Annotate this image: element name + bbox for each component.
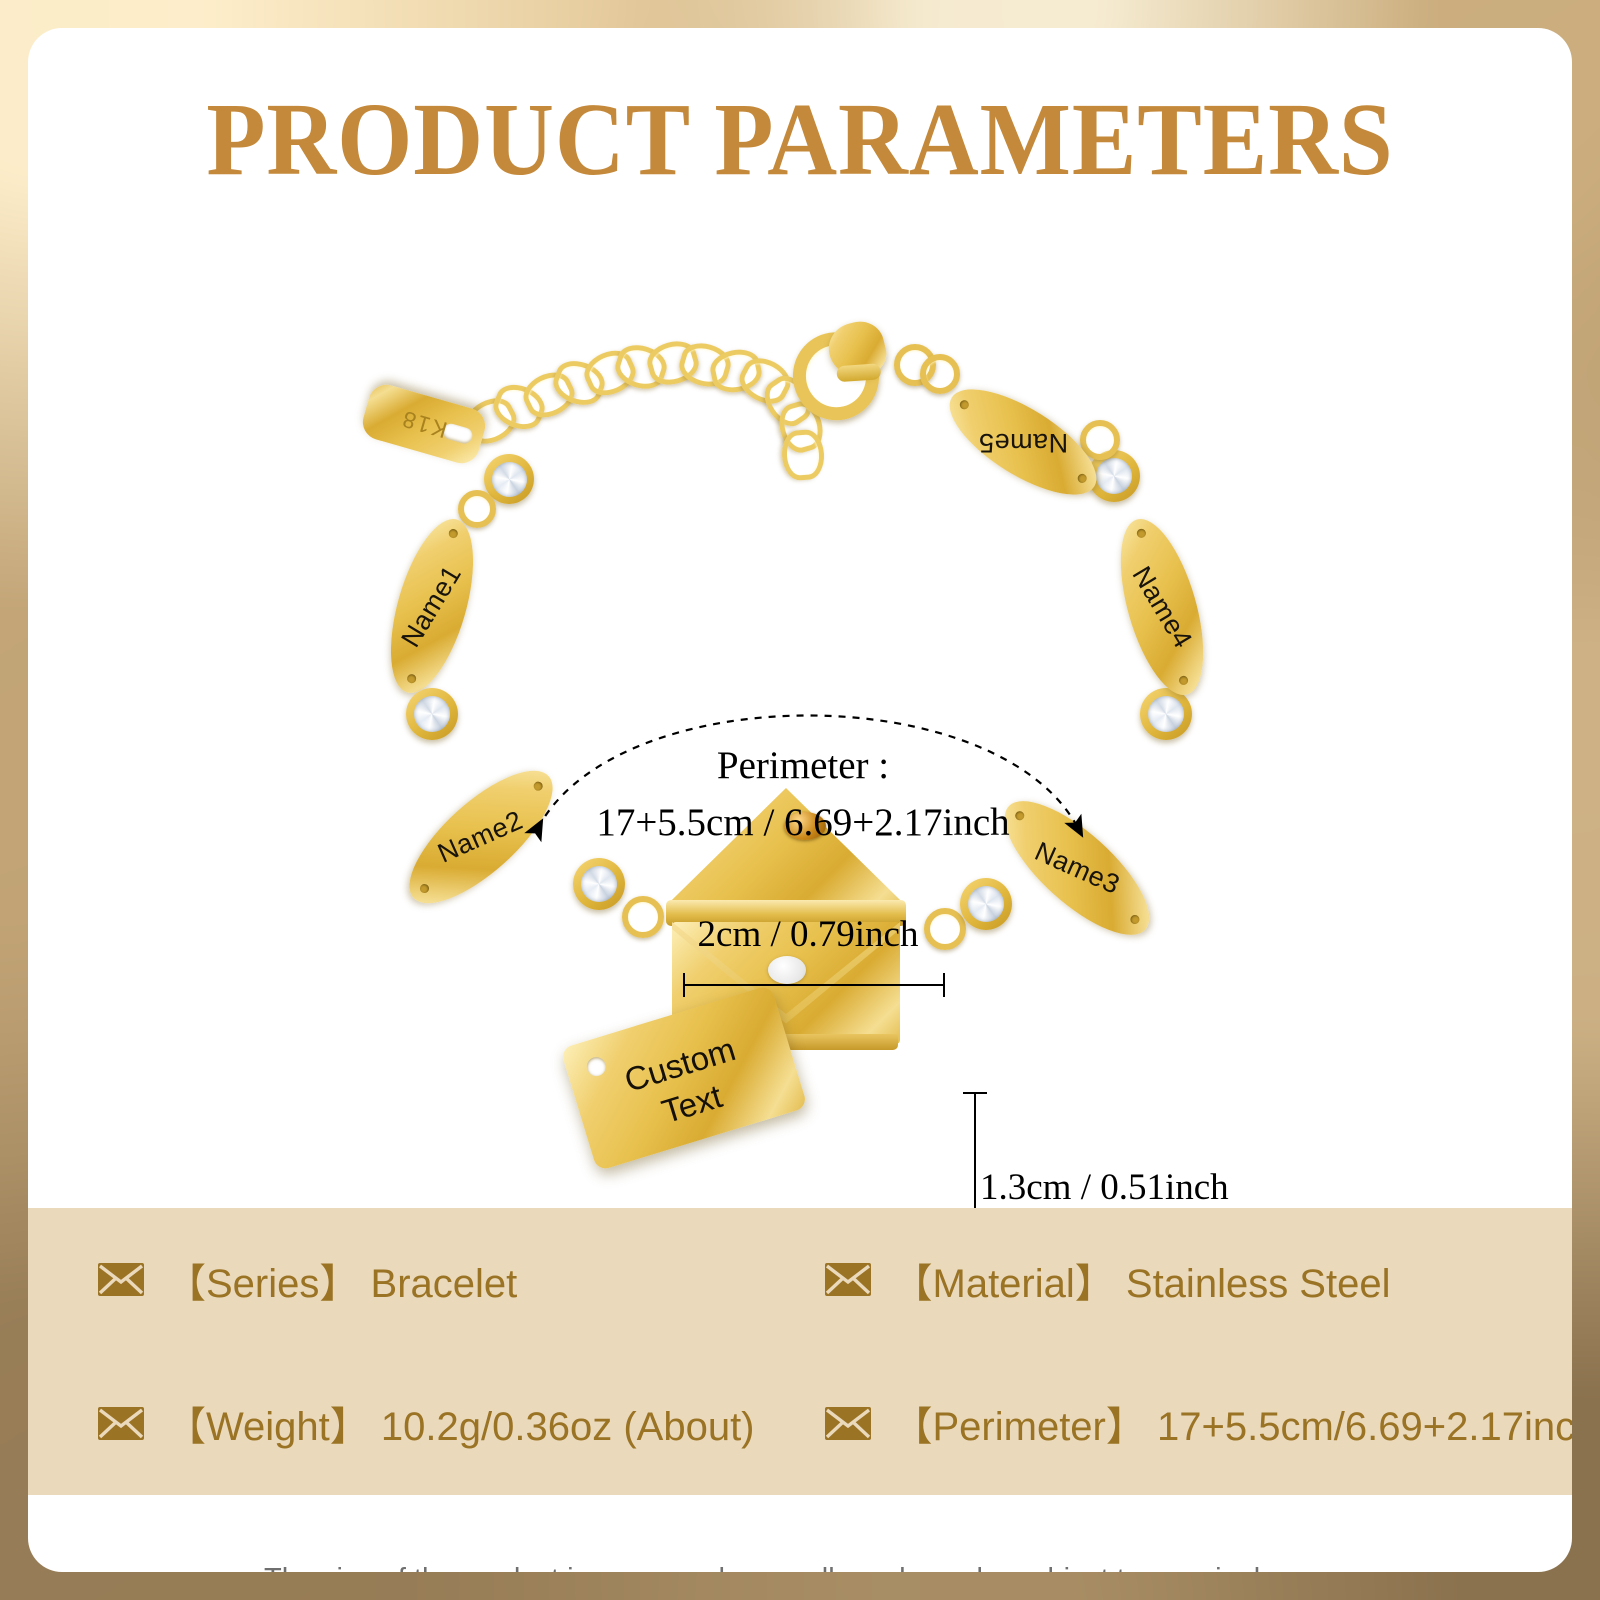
spec-key: 【Series】 [166,1262,359,1306]
envelope-icon [825,1263,871,1296]
height-annotation: 1.3cm / 0.51inch [980,1166,1270,1209]
infographic-root: PRODUCT PARAMETERS [0,0,1600,1600]
name-bar-name1: Name1 [375,510,490,702]
width-dimension-line [683,984,945,986]
spec-item-weight: 【Weight】 10.2g/0.36oz (About) [28,1394,755,1452]
spec-text: 【Material】 Stainless Steel [893,1251,1391,1309]
name-bar-name4: Name4 [1104,510,1220,704]
k18-stamp-text: K18 [363,394,486,453]
cz-stone [406,688,458,740]
spec-value: Bracelet [371,1262,518,1306]
name-bar-label: Name1 [396,560,469,653]
k18-metal-stamp-tag: K18 [359,381,490,468]
content-card: PRODUCT PARAMETERS [28,28,1572,1572]
spec-value: 17+5.5cm/6.69+2.17inch [1157,1405,1572,1449]
perimeter-annotation: Perimeter : 17+5.5cm / 6.69+2.17inch [568,738,1038,851]
spec-item-perimeter: 【Perimeter】 17+5.5cm/6.69+2.17inch [755,1394,1573,1452]
measurement-disclaimer: The size of the product is measured manu… [28,1524,1572,1572]
spec-text: 【Perimeter】 17+5.5cm/6.69+2.17inch [893,1394,1573,1452]
spec-value: Stainless Steel [1126,1262,1391,1306]
name-bar-label: Name4 [1126,561,1199,654]
spec-item-series: 【Series】 Bracelet [28,1251,755,1309]
spec-item-material: 【Material】 Stainless Steel [755,1251,1573,1309]
lobster-clasp [783,314,906,412]
name-bar-label: Name5 [978,426,1068,457]
spec-text: 【Series】 Bracelet [166,1251,517,1309]
cz-stone [573,858,625,910]
spec-text: 【Weight】 10.2g/0.36oz (About) [166,1394,755,1452]
envelope-icon [98,1263,144,1296]
spec-key: 【Perimeter】 [893,1405,1146,1449]
custom-text-tag: Custom Text [560,985,808,1172]
product-photo: K18 Name1 Name2 [28,228,1572,1208]
envelope-icon [825,1407,871,1440]
perimeter-label: Perimeter : [568,738,1038,795]
spec-key: 【Material】 [893,1262,1115,1306]
width-annotation: 2cm / 0.79inch [628,913,988,956]
spec-band: 【Series】 Bracelet 【Material】 Stainless S… [28,1208,1572,1495]
envelope-icon [98,1407,144,1440]
spec-key: 【Weight】 [166,1405,370,1449]
name-bar-name5: Name5 [934,370,1111,515]
spec-value: 10.2g/0.36oz (About) [381,1405,755,1449]
locket-clasp-dot [768,956,806,984]
jump-ring [920,354,960,394]
perimeter-value: 17+5.5cm / 6.69+2.17inch [568,795,1038,852]
page-title: PRODUCT PARAMETERS [82,88,1518,192]
